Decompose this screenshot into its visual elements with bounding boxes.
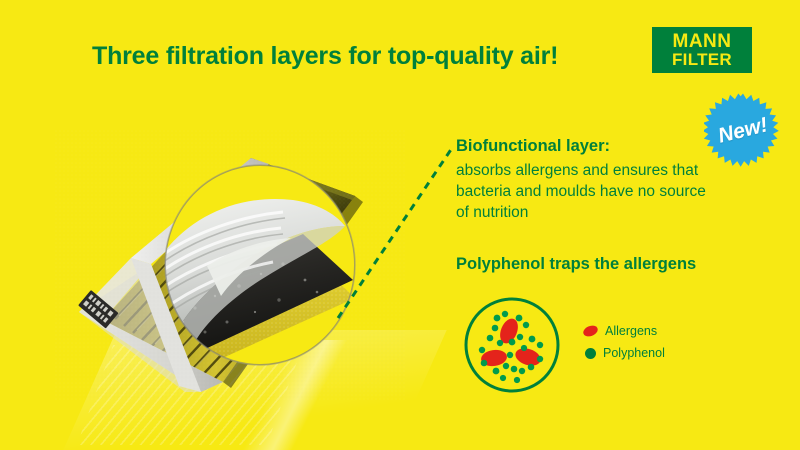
biofunctional-heading: Biofunctional layer:	[456, 137, 610, 156]
mann-filter-logo: MANN FILTER	[652, 27, 752, 73]
poster-canvas: Three filtration layers for top-quality …	[0, 0, 800, 450]
legend-label-allergens: Allergens	[605, 324, 657, 338]
biofunctional-body: absorbs allergens and ensures that bacte…	[456, 160, 706, 223]
legend-label-polyphenol: Polyphenol	[603, 346, 665, 360]
diagram-legend: Allergens Polyphenol	[583, 320, 713, 364]
new-badge: New!	[704, 92, 782, 170]
polyphenol-heading: Polyphenol traps the allergens	[456, 255, 696, 274]
legend-item-allergens: Allergens	[583, 320, 713, 342]
legend-item-polyphenol: Polyphenol	[583, 342, 713, 364]
allergen-swatch-icon	[582, 324, 600, 339]
polyphenol-allergen-diagram	[462, 295, 562, 395]
logo-line-filter: FILTER	[672, 51, 732, 69]
polyphenol-swatch-icon	[585, 348, 596, 359]
cabin-air-filter-image	[55, 130, 405, 400]
page-title: Three filtration layers for top-quality …	[92, 42, 558, 71]
logo-line-mann: MANN	[673, 32, 732, 51]
